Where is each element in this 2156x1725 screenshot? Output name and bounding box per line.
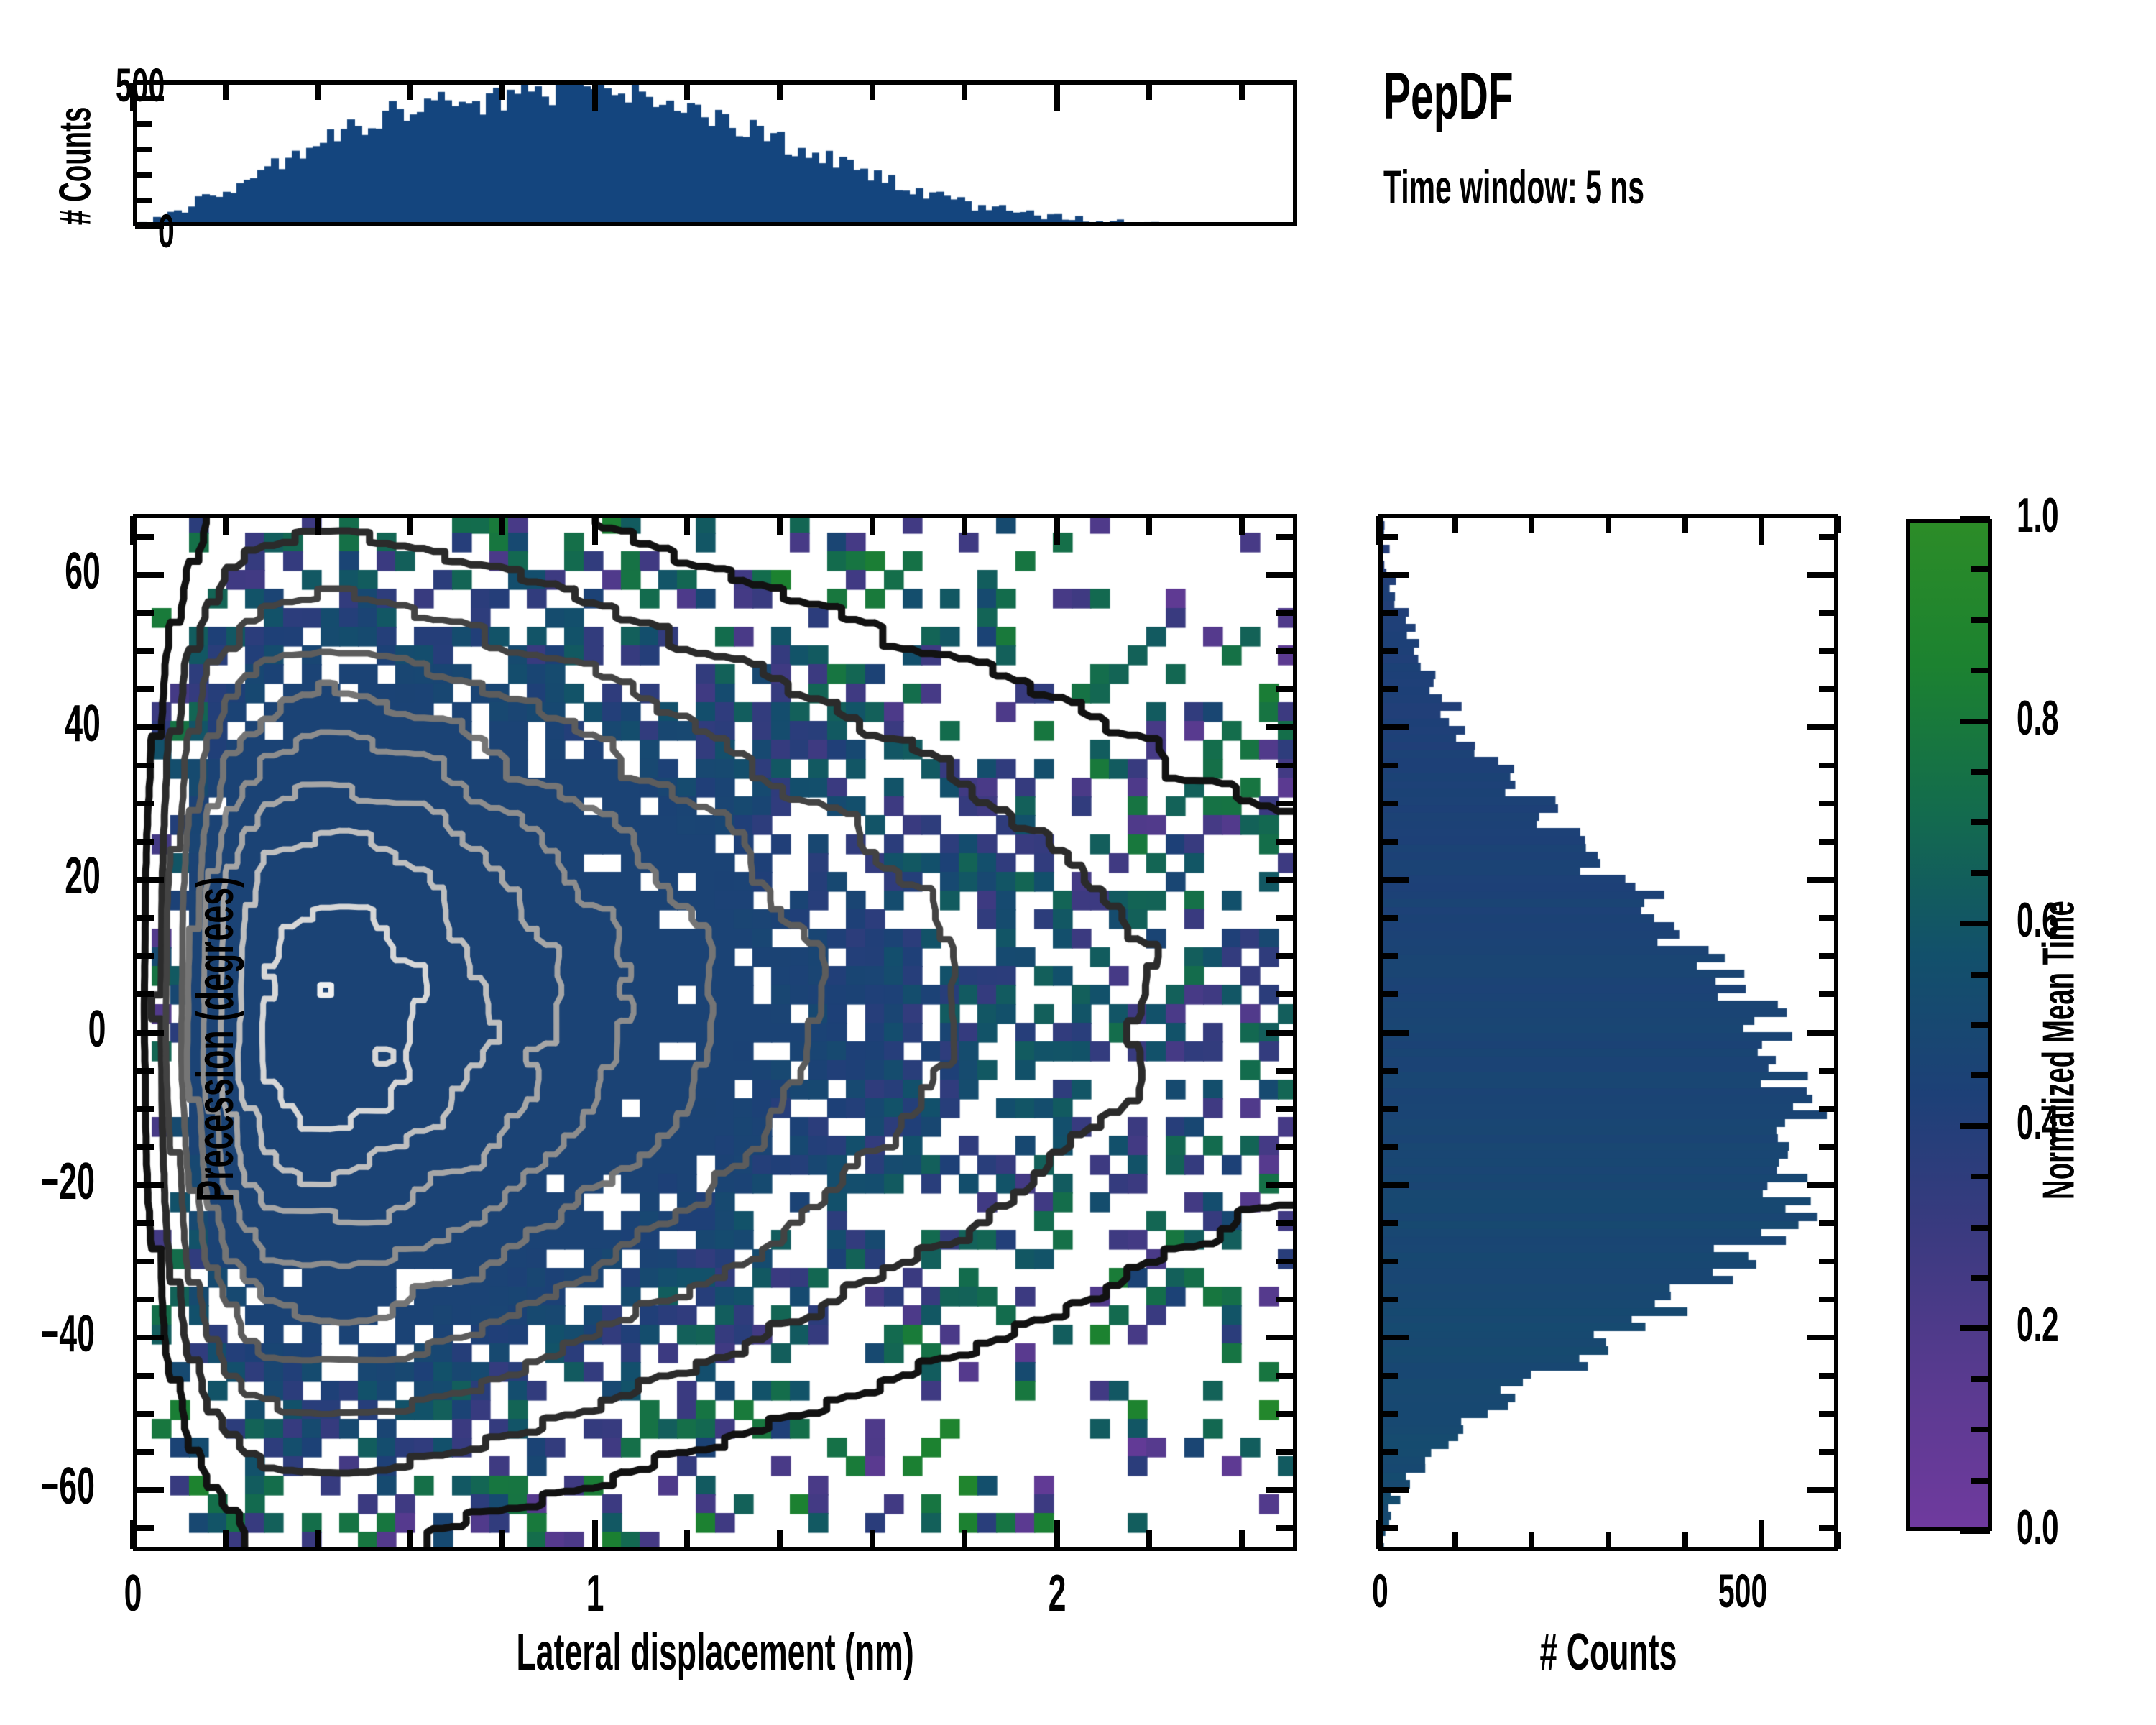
axis-tick	[1960, 1123, 1990, 1129]
axis-tick-label: 0	[65, 1564, 201, 1623]
axis-tick	[1381, 1487, 1409, 1493]
axis-tick	[1835, 1532, 1841, 1549]
axis-tick	[1819, 1220, 1836, 1226]
axis-tick	[1266, 1030, 1295, 1036]
axis-tick	[1971, 819, 1990, 825]
axis-tick	[1971, 769, 1990, 775]
axis-tick	[1960, 719, 1990, 724]
axis-tick	[1381, 1259, 1398, 1264]
axis-tick	[1054, 83, 1060, 111]
axis-tick	[1819, 1297, 1836, 1302]
axis-tick	[1682, 1532, 1688, 1549]
right-xtick-0: 0	[1350, 1563, 1410, 1618]
axis-tick	[1146, 516, 1152, 535]
axis-tick	[1819, 1525, 1836, 1531]
axis-tick	[1381, 648, 1398, 654]
top-histogram-canvas	[133, 80, 1297, 226]
right-histogram-canvas	[1378, 514, 1838, 1551]
axis-tick	[1276, 991, 1295, 997]
axis-tick	[1807, 1487, 1836, 1493]
axis-tick	[1381, 915, 1398, 921]
axis-tick	[1960, 1325, 1990, 1331]
colorbar-label: Normalized Mean Time	[2034, 584, 2085, 1518]
right-histogram-xlabel: # Counts	[1378, 1623, 1838, 1682]
axis-tick	[135, 572, 164, 578]
heatmap-canvas	[133, 514, 1297, 1551]
figure-title: PepDF	[1383, 59, 1593, 134]
axis-tick	[223, 83, 229, 100]
axis-tick	[1376, 1520, 1381, 1549]
axis-tick	[1381, 686, 1398, 692]
axis-tick	[1452, 516, 1458, 533]
axis-tick	[1266, 1487, 1295, 1493]
heatmap-ytick-label: 60	[0, 542, 111, 601]
axis-tick	[1276, 1068, 1295, 1074]
axis-tick	[135, 1487, 164, 1493]
axis-tick	[1819, 991, 1836, 997]
axis-tick	[592, 1520, 598, 1549]
axis-tick	[135, 763, 154, 768]
axis-tick	[1819, 648, 1836, 654]
axis-tick	[1381, 839, 1398, 845]
top-ytick-500: 500	[95, 57, 180, 112]
axis-tick	[684, 516, 690, 535]
figure-subtitle: Time window: 5 ns	[1383, 160, 1805, 214]
axis-tick	[1971, 1072, 1990, 1078]
axis-tick	[135, 953, 154, 959]
axis-tick	[1381, 801, 1398, 806]
axis-tick	[870, 83, 875, 100]
axis-tick	[1819, 1144, 1836, 1150]
axis-tick	[135, 198, 152, 203]
axis-tick	[1971, 1225, 1990, 1230]
axis-tick	[1276, 915, 1295, 921]
axis-tick	[130, 1520, 136, 1549]
axis-tick	[870, 1530, 875, 1549]
axis-tick	[1381, 1030, 1409, 1036]
axis-tick	[499, 1530, 505, 1549]
axis-tick	[1276, 763, 1295, 768]
axis-tick	[1807, 572, 1836, 578]
axis-tick	[1971, 1275, 1990, 1281]
axis-tick	[135, 839, 154, 845]
axis-tick	[135, 877, 164, 883]
axis-tick	[1819, 610, 1836, 616]
axis-tick	[135, 1411, 154, 1417]
axis-tick	[1381, 1335, 1409, 1340]
axis-tick	[1381, 1220, 1398, 1226]
axis-tick	[1819, 839, 1836, 845]
axis-tick	[135, 1220, 154, 1226]
axis-tick	[1276, 534, 1295, 540]
figure-canvas: 500 0 # Counts PepDF Time window: 5 ns 0…	[0, 0, 2156, 1725]
axis-tick	[777, 83, 783, 100]
axis-tick	[1971, 972, 1990, 977]
axis-tick	[1819, 801, 1836, 806]
axis-tick	[1819, 915, 1836, 921]
axis-tick	[1381, 953, 1398, 959]
axis-tick	[1054, 1520, 1060, 1549]
axis-tick	[1529, 516, 1534, 533]
axis-tick	[1819, 953, 1836, 959]
axis-tick	[135, 686, 154, 692]
axis-tick	[1807, 877, 1836, 883]
axis-tick	[135, 534, 154, 540]
axis-tick	[135, 1525, 154, 1531]
axis-tick	[1819, 1449, 1836, 1455]
axis-tick	[962, 1530, 967, 1549]
axis-tick	[1381, 763, 1398, 768]
axis-tick-label: 2	[989, 1564, 1125, 1623]
right-marginal-histogram-panel	[1378, 514, 1838, 1551]
heatmap-ytick-label: −20	[0, 1152, 111, 1211]
axis-tick	[1819, 686, 1836, 692]
axis-tick	[777, 516, 783, 535]
axis-tick	[1971, 668, 1990, 673]
axis-tick	[1819, 1068, 1836, 1074]
axis-tick	[1606, 1532, 1611, 1549]
axis-tick	[1239, 516, 1245, 535]
heatmap-ylabel: Precession (degrees)	[186, 428, 245, 1650]
axis-tick	[1819, 1411, 1836, 1417]
axis-tick	[1807, 724, 1836, 730]
axis-tick	[1276, 1106, 1295, 1112]
axis-tick	[135, 121, 152, 127]
axis-tick	[870, 516, 875, 535]
axis-tick	[1266, 1335, 1295, 1340]
axis-tick	[1276, 1449, 1295, 1455]
axis-tick	[407, 1530, 413, 1549]
axis-tick	[1960, 921, 1990, 926]
axis-tick	[1376, 516, 1381, 545]
axis-tick	[1971, 870, 1990, 876]
axis-tick	[135, 1297, 154, 1302]
top-histogram-ylabel: # Counts	[50, 58, 101, 274]
axis-tick	[315, 516, 321, 535]
axis-tick	[1971, 1022, 1990, 1028]
axis-tick	[1054, 516, 1060, 545]
axis-tick	[1606, 516, 1611, 533]
axis-tick	[135, 1335, 164, 1340]
axis-tick	[1819, 1373, 1836, 1379]
axis-tick	[1807, 1030, 1836, 1036]
axis-tick	[592, 516, 598, 545]
axis-tick	[1971, 1376, 1990, 1382]
axis-tick	[499, 83, 505, 100]
axis-tick	[1266, 724, 1295, 730]
axis-tick	[1452, 1532, 1458, 1549]
heatmap-xlabel: Lateral displacement (nm)	[133, 1623, 1297, 1682]
axis-tick	[684, 83, 690, 100]
axis-tick	[1819, 534, 1836, 540]
axis-tick	[499, 516, 505, 535]
axis-tick	[1276, 686, 1295, 692]
axis-tick	[1759, 1520, 1764, 1549]
axis-tick	[1276, 1297, 1295, 1302]
axis-tick	[1960, 516, 1990, 522]
axis-tick	[1682, 516, 1688, 533]
axis-tick	[315, 83, 321, 100]
axis-tick	[1971, 1478, 1990, 1483]
axis-tick	[1381, 1449, 1398, 1455]
axis-tick	[1381, 1182, 1409, 1188]
axis-tick	[1819, 1106, 1836, 1112]
heatmap-ytick-label: 40	[0, 694, 111, 753]
axis-tick	[1529, 1532, 1534, 1549]
axis-tick	[1146, 83, 1152, 100]
top-ytick-0: 0	[95, 203, 180, 258]
axis-tick	[1819, 763, 1836, 768]
axis-tick	[1276, 1220, 1295, 1226]
axis-tick	[135, 991, 154, 997]
axis-tick	[1807, 1335, 1836, 1340]
axis-tick	[1276, 1525, 1295, 1531]
axis-tick	[1276, 648, 1295, 654]
axis-tick	[1381, 1373, 1398, 1379]
axis-tick	[1971, 1427, 1990, 1432]
axis-tick	[1276, 1411, 1295, 1417]
axis-tick	[407, 83, 413, 100]
axis-tick	[1276, 1373, 1295, 1379]
axis-tick	[1971, 617, 1990, 623]
axis-tick	[1971, 1174, 1990, 1179]
axis-tick	[1835, 516, 1841, 533]
axis-tick	[1759, 516, 1764, 545]
axis-tick	[407, 516, 413, 535]
axis-tick	[135, 1373, 154, 1379]
axis-tick	[962, 83, 967, 100]
axis-tick	[962, 516, 967, 535]
axis-tick	[135, 724, 164, 730]
axis-tick	[1381, 534, 1398, 540]
axis-tick	[1381, 877, 1409, 883]
axis-tick	[1381, 724, 1409, 730]
axis-tick	[1381, 610, 1398, 616]
axis-tick	[1381, 1297, 1398, 1302]
axis-tick	[1276, 610, 1295, 616]
axis-tick	[135, 915, 154, 921]
axis-tick	[135, 1182, 164, 1188]
axis-tick	[1276, 1259, 1295, 1264]
joint-2d-histogram-panel	[133, 514, 1297, 1551]
axis-tick	[1971, 566, 1990, 572]
axis-tick	[1276, 1144, 1295, 1150]
axis-tick	[135, 648, 154, 654]
axis-tick	[135, 1259, 154, 1264]
axis-tick	[1276, 953, 1295, 959]
axis-tick-label: 1	[527, 1564, 663, 1623]
axis-tick	[1381, 1068, 1398, 1074]
axis-tick	[1239, 1530, 1245, 1549]
axis-tick	[1266, 572, 1295, 578]
axis-tick	[1381, 1144, 1398, 1150]
heatmap-ytick-label: 20	[0, 847, 111, 906]
axis-tick	[1266, 877, 1295, 883]
heatmap-ytick-label: −60	[0, 1457, 111, 1516]
heatmap-ytick-label: 0	[0, 1000, 111, 1059]
axis-tick	[1381, 1525, 1398, 1531]
axis-tick	[684, 1530, 690, 1549]
axis-tick	[135, 1449, 154, 1455]
axis-tick	[1266, 1182, 1295, 1188]
axis-tick	[777, 1530, 783, 1549]
axis-tick	[135, 147, 152, 152]
heatmap-ytick-label: −40	[0, 1305, 111, 1363]
axis-tick	[1960, 1528, 1990, 1534]
axis-tick	[1807, 1182, 1836, 1188]
axis-tick	[1381, 1106, 1398, 1112]
axis-tick	[135, 801, 154, 806]
colorbar-tick-label-5: 1.0	[2017, 487, 2156, 543]
axis-tick	[135, 1106, 154, 1112]
axis-tick	[135, 610, 154, 616]
axis-tick	[1381, 572, 1409, 578]
axis-tick	[135, 172, 152, 178]
axis-tick	[1819, 1259, 1836, 1264]
axis-tick	[1239, 83, 1245, 100]
axis-tick	[1381, 991, 1398, 997]
axis-tick	[1146, 1530, 1152, 1549]
top-marginal-histogram-panel	[133, 80, 1297, 226]
axis-tick	[135, 1030, 164, 1036]
axis-tick	[1276, 801, 1295, 806]
axis-tick	[592, 83, 598, 111]
axis-tick	[1381, 1411, 1398, 1417]
axis-tick	[1276, 839, 1295, 845]
axis-tick	[135, 1068, 154, 1074]
axis-tick	[135, 1144, 154, 1150]
right-xtick-500: 500	[1674, 1563, 1811, 1618]
axis-tick	[130, 516, 136, 545]
axis-tick	[315, 1530, 321, 1549]
